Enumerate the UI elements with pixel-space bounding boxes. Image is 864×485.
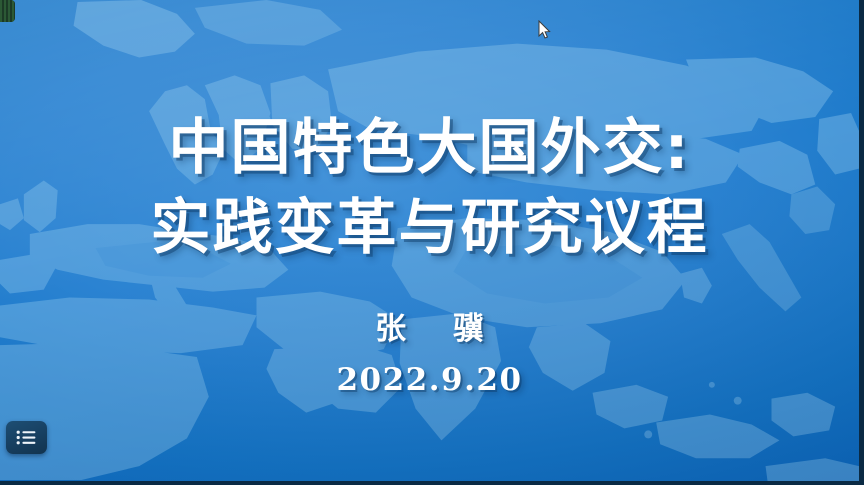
slide-content: 中国特色大国外交: 实践变革与研究议程 张 骥 2022.9.20 xyxy=(0,0,859,481)
presentation-menu-button[interactable] xyxy=(6,421,47,454)
slide-title-line-1: 中国特色大国外交: xyxy=(169,108,691,188)
presentation-slide-stage[interactable]: 中国特色大国外交: 实践变革与研究议程 张 骥 2022.9.20 xyxy=(0,0,864,485)
top-left-widget-sliver[interactable] xyxy=(0,0,15,22)
slide-date: 2022.9.20 xyxy=(336,362,522,398)
widget-stripes xyxy=(0,0,15,22)
slide-author: 张 骥 xyxy=(357,303,502,348)
slide-title-line-2: 实践变革与研究议程 xyxy=(151,188,709,268)
list-menu-icon xyxy=(16,430,37,445)
